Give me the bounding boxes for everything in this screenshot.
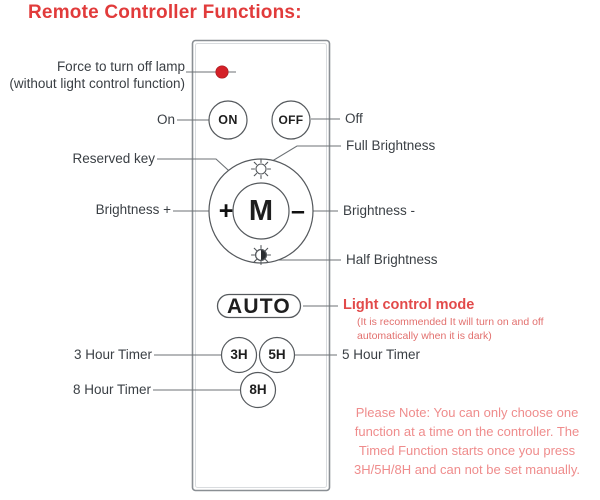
callout-full-brightness: Full Brightness <box>346 138 435 155</box>
button-brightness-up-glyph[interactable]: + <box>213 198 239 224</box>
callout-brightness-down: Brightness - <box>343 203 415 220</box>
callout-light-control-note: (It is recommended It will turn on and o… <box>357 316 572 343</box>
half-sun-icon[interactable] <box>252 246 271 265</box>
callout-force-off-lamp: Force to turn off lamp (without light co… <box>0 59 185 93</box>
callout-light-control-mode: Light control mode <box>343 297 474 313</box>
button-brightness-down-glyph[interactable]: – <box>285 198 311 224</box>
callout-off: Off <box>345 111 363 128</box>
button-timer-8h-label[interactable]: 8H <box>238 382 278 398</box>
callout-reserved-key: Reserved key <box>0 151 155 168</box>
callout-force-off-lamp-line1: Force to turn off lamp <box>0 59 185 76</box>
button-auto-label[interactable]: AUTO <box>217 297 301 316</box>
button-timer-5h-label[interactable]: 5H <box>257 347 297 363</box>
callout-brightness-up: Brightness + <box>0 202 171 219</box>
callout-half-brightness: Half Brightness <box>346 252 438 269</box>
please-note-text: Please Note: You can only choose one fun… <box>336 404 598 479</box>
callout-timer-8h: 8 Hour Timer <box>0 382 151 399</box>
callout-force-off-lamp-line2: (without light control function) <box>0 76 185 93</box>
button-mode-label[interactable]: M <box>241 194 281 228</box>
callout-timer-5h: 5 Hour Timer <box>342 347 420 364</box>
button-off-label[interactable]: OFF <box>271 113 311 127</box>
button-timer-3h-label[interactable]: 3H <box>219 347 259 363</box>
callout-timer-3h: 3 Hour Timer <box>0 347 152 364</box>
remote-controller-diagram: Remote Controller Functions: <box>0 0 600 500</box>
force-off-lamp-dot[interactable] <box>216 66 228 78</box>
button-on-label[interactable]: ON <box>208 113 248 127</box>
callout-on: On <box>0 112 175 129</box>
